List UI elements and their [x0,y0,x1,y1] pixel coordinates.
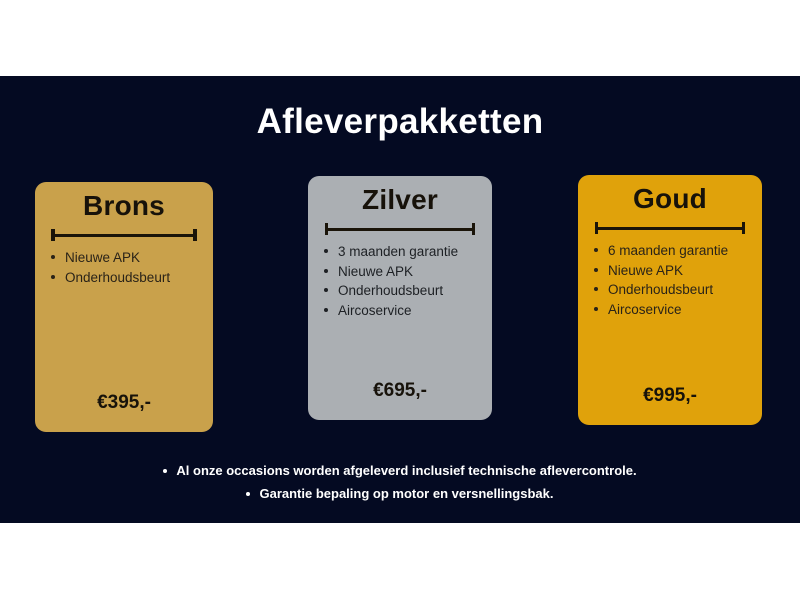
bullet-icon [163,469,167,473]
rule-cap-right-icon [742,222,746,234]
title-rule-icon [325,223,476,235]
feature-label: 6 maanden garantie [608,243,728,258]
package-title-zilver: Zilver [308,184,492,216]
package-card-goud[interactable]: Goud 6 maanden garantie Nieuwe APK Onder… [578,175,762,425]
rule-cap-right-icon [193,229,197,241]
rule-bar-icon [325,228,476,232]
feature-label: Nieuwe APK [338,264,413,279]
footer-note-label: Al onze occasions worden afgeleverd incl… [176,463,636,478]
bullet-icon [246,492,250,496]
bullet-icon [324,249,328,253]
package-card-zilver[interactable]: Zilver 3 maanden garantie Nieuwe APK Ond… [308,176,492,420]
rule-bar-icon [51,234,197,238]
bullet-icon [594,268,598,272]
package-price-goud: €995,- [578,385,762,407]
footer-notes: Al onze occasions worden afgeleverd incl… [0,459,800,505]
list-item: Nieuwe APK [338,262,482,282]
list-item: Nieuwe APK [608,261,752,281]
title-rule-icon [595,222,746,234]
list-item: Nieuwe APK [65,248,203,268]
rule-cap-right-icon [472,223,476,235]
list-item: Onderhoudsbeurt [338,281,482,301]
bullet-icon [324,308,328,312]
footer-note-2: Garantie bepaling op motor en versnellin… [0,482,800,505]
feature-label: Onderhoudsbeurt [65,270,170,285]
list-item: Aircoservice [608,300,752,320]
feature-list-brons: Nieuwe APK Onderhoudsbeurt [35,248,213,287]
feature-label: 3 maanden garantie [338,244,458,259]
package-title-brons: Brons [35,190,213,222]
feature-label: Nieuwe APK [65,250,140,265]
bullet-icon [324,288,328,292]
list-item: Onderhoudsbeurt [608,280,752,300]
package-title-goud: Goud [578,183,762,215]
slide-canvas: Afleverpakketten Brons Nieuwe APK Onderh… [0,0,800,600]
bullet-icon [594,287,598,291]
list-item: Onderhoudsbeurt [65,268,203,288]
rule-bar-icon [595,227,746,231]
feature-label: Aircoservice [608,302,682,317]
footer-note-1: Al onze occasions worden afgeleverd incl… [0,459,800,482]
feature-label: Nieuwe APK [608,263,683,278]
list-item: Aircoservice [338,301,482,321]
package-card-brons[interactable]: Brons Nieuwe APK Onderhoudsbeurt €395,- [35,182,213,432]
feature-label: Onderhoudsbeurt [338,283,443,298]
feature-label: Aircoservice [338,303,412,318]
list-item: 6 maanden garantie [608,241,752,261]
list-item: 3 maanden garantie [338,242,482,262]
feature-list-goud: 6 maanden garantie Nieuwe APK Onderhouds… [578,241,762,319]
bullet-icon [324,269,328,273]
feature-label: Onderhoudsbeurt [608,282,713,297]
page-title: Afleverpakketten [0,102,800,142]
footer-note-label: Garantie bepaling op motor en versnellin… [259,486,553,501]
bullet-icon [594,307,598,311]
package-price-zilver: €695,- [308,380,492,402]
bullet-icon [51,275,55,279]
package-price-brons: €395,- [35,392,213,414]
feature-list-zilver: 3 maanden garantie Nieuwe APK Onderhouds… [308,242,492,320]
title-rule-icon [51,229,197,241]
bullet-icon [51,255,55,259]
bullet-icon [594,248,598,252]
slide-body: Afleverpakketten Brons Nieuwe APK Onderh… [0,76,800,523]
